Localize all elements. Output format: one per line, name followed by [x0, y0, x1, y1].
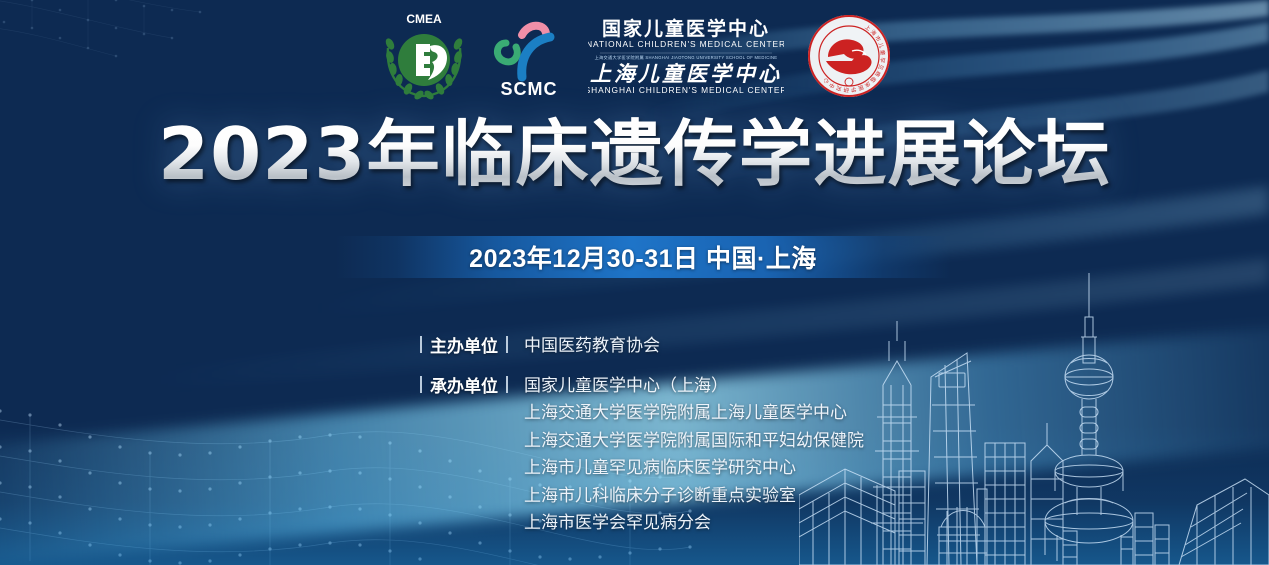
host-label-wrap: 主办单位	[412, 332, 516, 357]
scmc-chinese-name: 上海儿童医学中心	[590, 61, 782, 86]
cmea-logo: CMEA	[378, 10, 470, 102]
cmea-wordmark: CMEA	[406, 12, 442, 26]
host-item: 中国医药教育协会	[524, 332, 660, 360]
conference-banner: CMEA	[0, 0, 1269, 565]
scmc-wordmark: SCMC	[500, 79, 557, 99]
cohost-item: 国家儿童医学中心（上海）	[524, 372, 864, 400]
ncmc-english-name: NATIONAL CHILDREN'S MEDICAL CENTER	[588, 39, 784, 49]
cohost-values: 国家儿童医学中心（上海） 上海交通大学医学院附属上海儿童医学中心 上海交通大学医…	[524, 372, 864, 537]
organizers-section: 主办单位 中国医药教育协会 承办单位 国家儿童医学中心（上海） 上海交通大学医学…	[412, 332, 864, 549]
host-block: 主办单位 中国医药教育协会	[412, 332, 864, 360]
date-location-band: 2023年12月30-31日 中国·上海	[335, 236, 951, 278]
ncmc-wordmark-logo: 国家儿童医学中心 NATIONAL CHILDREN'S MEDICAL CEN…	[588, 15, 784, 97]
cohost-item: 上海市儿童罕见病临床医学研究中心	[524, 454, 864, 482]
page-title: 2023年临床遗传学进展论坛	[0, 116, 1269, 194]
cohost-item: 上海交通大学医学院附属国际和平妇幼保健院	[524, 427, 864, 455]
cohost-item: 上海市儿科临床分子诊断重点实验室	[524, 482, 864, 510]
ncmc-micro-text: 上海交通大学医学院附属 SHANGHAI JIAOTONG UNIVERSITY…	[594, 54, 777, 61]
host-label: 主办单位	[430, 332, 498, 357]
bar-right-icon	[506, 376, 508, 393]
date-location-text: 2023年12月30-31日 中国·上海	[469, 239, 817, 275]
bar-right-icon	[506, 336, 508, 353]
cohost-item: 上海交通大学医学院附属上海儿童医学中心	[524, 399, 864, 427]
bar-left-icon	[420, 336, 422, 353]
logo-row: CMEA	[0, 8, 1269, 104]
ncmc-chinese-name: 国家儿童医学中心	[601, 17, 769, 40]
shanghai-skyline-decoration	[799, 265, 1269, 565]
cohost-label: 承办单位	[430, 372, 498, 397]
cohost-block: 承办单位 国家儿童医学中心（上海） 上海交通大学医学院附属上海儿童医学中心 上海…	[412, 372, 864, 537]
cohost-item: 上海市医学会罕见病分会	[524, 509, 864, 537]
scmc-english-name: SHANGHAI CHILDREN'S MEDICAL CENTER	[588, 85, 784, 95]
cohost-label-wrap: 承办单位	[412, 372, 516, 397]
bar-left-icon	[420, 376, 422, 393]
host-values: 中国医药教育协会	[524, 332, 660, 360]
rare-disease-center-seal-logo: 上海市儿童罕见病临床医学研究中心	[806, 13, 892, 99]
scmc-logo: SCMC	[492, 13, 566, 99]
